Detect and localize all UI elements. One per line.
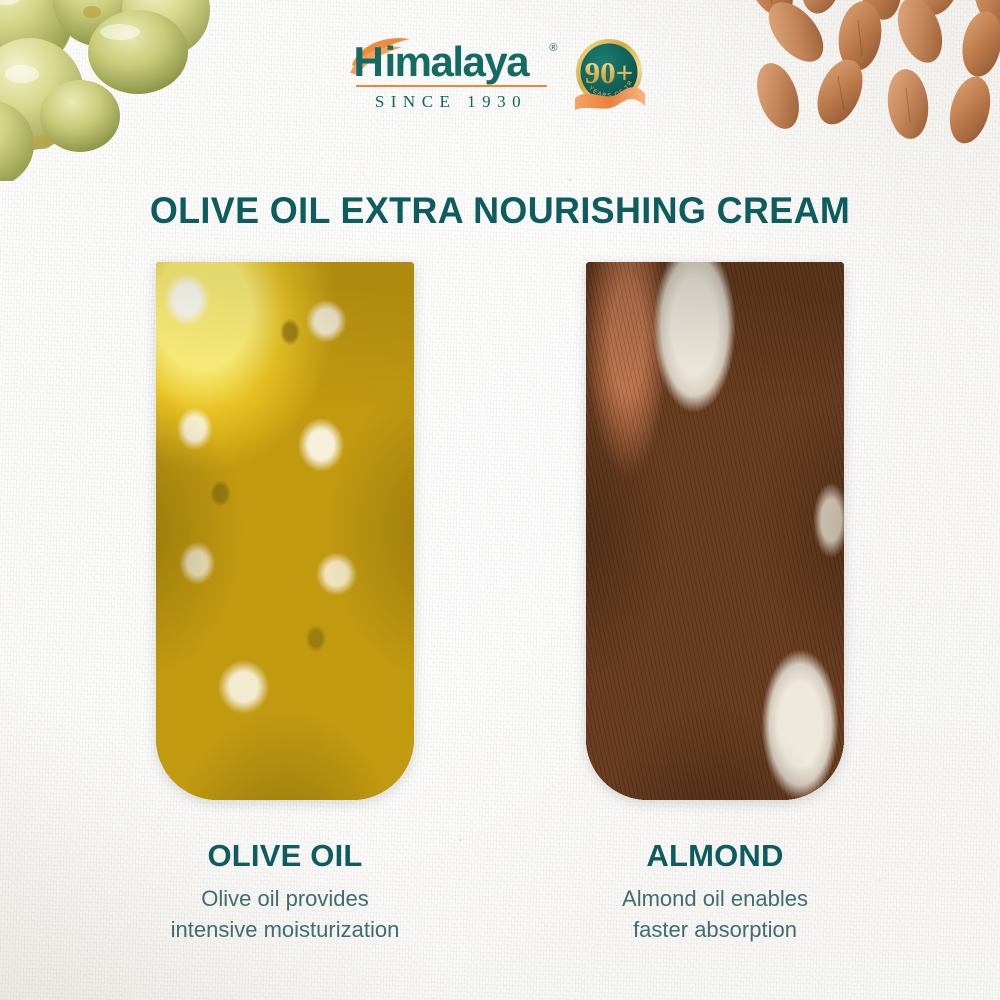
registered-trademark-icon: ® <box>549 42 557 54</box>
almond-caption: ALMOND Almond oil enables faster absorpt… <box>505 838 925 945</box>
logo-divider-rule <box>356 85 547 87</box>
almond-caption-title: ALMOND <box>505 838 925 874</box>
brand-header: H imalaya ® SINCE 1930 <box>0 36 1000 114</box>
logo-tagline: SINCE 1930 <box>354 92 549 112</box>
logo-letters-rest: imalaya <box>385 41 529 83</box>
olive-description-line-2: intensive moisturization <box>75 914 495 945</box>
himalaya-wordmark: H imalaya ® <box>354 39 549 83</box>
almond-caption-description: Almond oil enables faster absorption <box>505 883 925 945</box>
olive-caption-title: OLIVE OIL <box>75 838 495 874</box>
poster-canvas: H imalaya ® SINCE 1930 <box>0 0 1000 1000</box>
ninety-years-badge: 90+ YEARS OF TRUST <box>571 36 647 114</box>
page-title: OLIVE OIL EXTRA NOURISHING CREAM <box>15 190 985 232</box>
logo-letter-h: H <box>354 41 383 83</box>
olive-shading <box>156 262 414 800</box>
almond-photo-panel <box>586 262 844 800</box>
almond-shading <box>586 262 844 800</box>
almond-description-line-1: Almond oil enables <box>505 883 925 914</box>
olive-caption-description: Olive oil provides intensive moisturizat… <box>75 883 495 945</box>
olive-photo-panel <box>156 262 414 800</box>
almond-description-line-2: faster absorption <box>505 914 925 945</box>
ingredient-panels <box>0 262 1000 802</box>
olive-description-line-1: Olive oil provides <box>75 883 495 914</box>
himalaya-logo[interactable]: H imalaya ® SINCE 1930 <box>354 39 549 112</box>
olive-caption: OLIVE OIL Olive oil provides intensive m… <box>75 838 495 945</box>
